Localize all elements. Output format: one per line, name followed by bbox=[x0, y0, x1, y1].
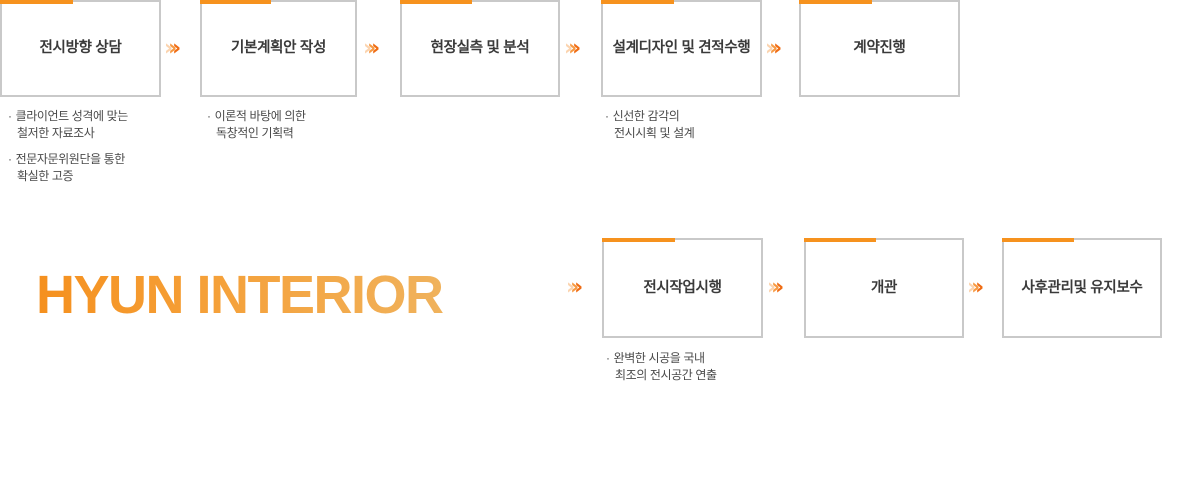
process-step-label-3: 현장실측 및 분석 bbox=[431, 39, 530, 58]
accent-bar-1 bbox=[0, 0, 73, 4]
process-step-label-6: 전시작업시행 bbox=[643, 279, 721, 298]
chevron-icon-dark: › bbox=[574, 277, 578, 299]
bullet-line: 철저한 자료조사 bbox=[8, 125, 168, 142]
accent-bar-8 bbox=[1002, 238, 1074, 242]
bullet-line: 최조의 전시공간 연출 bbox=[606, 367, 786, 384]
chevron-icon-dark: › bbox=[773, 38, 777, 60]
chevron-separator-2: › › › bbox=[363, 38, 375, 60]
accent-bar-7 bbox=[804, 238, 876, 242]
bullet-line: 신선한 감각의 bbox=[605, 108, 775, 125]
process-step-label-8: 사후관리및 유지보수 bbox=[1021, 279, 1142, 298]
process-step-box-7[interactable]: 개관 bbox=[804, 238, 964, 338]
chevron-icon-dark: › bbox=[172, 38, 176, 60]
accent-bar-5 bbox=[799, 0, 872, 4]
accent-bar-2 bbox=[200, 0, 271, 4]
process-step-label-5: 계약진행 bbox=[853, 39, 905, 58]
process-step-label-7: 개관 bbox=[871, 279, 897, 298]
brand-logo: HYUN INTERIOR bbox=[36, 264, 443, 326]
bullet-line: 완벽한 시공을 국내 bbox=[606, 350, 786, 367]
bullet-line: 전시시획 및 설계 bbox=[605, 125, 775, 142]
process-step-box-6[interactable]: 전시작업시행 bbox=[602, 238, 763, 338]
accent-bar-6 bbox=[602, 238, 675, 242]
bullet-line: 전문자문위원단을 통한 bbox=[8, 151, 168, 168]
chevron-icon-dark: › bbox=[371, 38, 375, 60]
bullet-item: 신선한 감각의 전시시획 및 설계 bbox=[605, 108, 775, 143]
chevron-separator-7: › › › bbox=[967, 277, 979, 299]
bullet-line: 독창적인 기획력 bbox=[207, 125, 367, 142]
chevron-separator-4: › › › bbox=[765, 38, 777, 60]
process-step-box-8[interactable]: 사후관리및 유지보수 bbox=[1002, 238, 1162, 338]
process-step-box-5[interactable]: 계약진행 bbox=[799, 0, 960, 97]
bullet-item: 클라이언트 성격에 맞는 철저한 자료조사 bbox=[8, 108, 168, 143]
process-step-bullets-2: 이론적 바탕에 의한 독창적인 기획력 bbox=[207, 108, 367, 143]
process-step-label-1: 전시방향 상담 bbox=[40, 39, 122, 58]
chevron-separator-1: › › › bbox=[164, 38, 176, 60]
chevron-icon-dark: › bbox=[572, 38, 576, 60]
process-step-label-4: 설계디자인 및 견적수행 bbox=[613, 39, 751, 58]
chevron-separator-3: › › › bbox=[564, 38, 576, 60]
process-step-box-4[interactable]: 설계디자인 및 견적수행 bbox=[601, 0, 762, 97]
process-step-bullets-1: 클라이언트 성격에 맞는 철저한 자료조사 전문자문위원단을 통한 확실한 고증 bbox=[8, 108, 168, 186]
bullet-line: 클라이언트 성격에 맞는 bbox=[8, 108, 168, 125]
process-step-box-1[interactable]: 전시방향 상담 bbox=[0, 0, 161, 97]
process-step-label-2: 기본계획안 작성 bbox=[231, 39, 326, 58]
bullet-item: 전문자문위원단을 통한 확실한 고증 bbox=[8, 151, 168, 186]
bullet-line: 이론적 바탕에 의한 bbox=[207, 108, 367, 125]
bullet-item: 이론적 바탕에 의한 독창적인 기획력 bbox=[207, 108, 367, 143]
accent-bar-4 bbox=[601, 0, 674, 4]
process-step-bullets-4: 신선한 감각의 전시시획 및 설계 bbox=[605, 108, 775, 143]
process-step-bullets-6: 완벽한 시공을 국내 최조의 전시공간 연출 bbox=[606, 350, 786, 385]
bullet-line: 확실한 고증 bbox=[8, 168, 168, 185]
chevron-icon-dark: › bbox=[975, 277, 979, 299]
accent-bar-3 bbox=[400, 0, 472, 4]
chevron-separator-5: › › › bbox=[566, 277, 578, 299]
process-step-box-2[interactable]: 기본계획안 작성 bbox=[200, 0, 357, 97]
bullet-item: 완벽한 시공을 국내 최조의 전시공간 연출 bbox=[606, 350, 786, 385]
chevron-icon-dark: › bbox=[775, 277, 779, 299]
process-flow-diagram: 전시방향 상담 › › › 클라이언트 성격에 맞는 철저한 자료조사 전문자문… bbox=[0, 0, 1200, 500]
chevron-separator-6: › › › bbox=[767, 277, 779, 299]
process-step-box-3[interactable]: 현장실측 및 분석 bbox=[400, 0, 560, 97]
